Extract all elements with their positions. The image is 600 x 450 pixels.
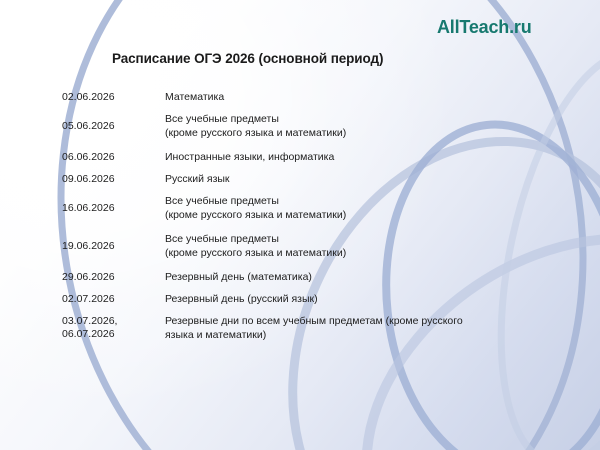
- table-row: 03.07.2026, 06.07.2026Резервные дни по в…: [62, 314, 562, 342]
- schedule-table: 02.06.2026Математика05.06.2026Все учебны…: [62, 90, 562, 352]
- table-row: 16.06.2026Все учебные предметы (кроме ру…: [62, 194, 562, 222]
- exam-date: 03.07.2026, 06.07.2026: [62, 315, 165, 341]
- exam-date: 02.06.2026: [62, 91, 165, 104]
- exam-subject: Резервный день (русский язык): [165, 292, 562, 306]
- exam-date: 05.06.2026: [62, 120, 165, 133]
- slide-canvas: AllTeach.ru Расписание ОГЭ 2026 (основно…: [0, 0, 600, 450]
- page-title: Расписание ОГЭ 2026 (основной период): [112, 51, 383, 66]
- exam-date: 06.06.2026: [62, 151, 165, 164]
- exam-subject: Резервный день (математика): [165, 270, 562, 284]
- table-row: 02.07.2026Резервный день (русский язык): [62, 292, 562, 306]
- table-row: 09.06.2026Русский язык: [62, 172, 562, 186]
- exam-subject: Все учебные предметы (кроме русского язы…: [165, 112, 562, 140]
- exam-subject: Все учебные предметы (кроме русского язы…: [165, 232, 562, 260]
- table-row: 06.06.2026Иностранные языки, информатика: [62, 150, 562, 164]
- exam-subject: Все учебные предметы (кроме русского язы…: [165, 194, 562, 222]
- exam-date: 02.07.2026: [62, 293, 165, 306]
- exam-date: 09.06.2026: [62, 173, 165, 186]
- exam-subject: Иностранные языки, информатика: [165, 150, 562, 164]
- table-row: 02.06.2026Математика: [62, 90, 562, 104]
- exam-subject: Математика: [165, 90, 562, 104]
- table-row: 05.06.2026Все учебные предметы (кроме ру…: [62, 112, 562, 140]
- table-row: 19.06.2026Все учебные предметы (кроме ру…: [62, 232, 562, 260]
- exam-subject: Русский язык: [165, 172, 562, 186]
- allteach-logo: AllTeach.ru: [437, 17, 532, 38]
- exam-date: 16.06.2026: [62, 202, 165, 215]
- exam-subject: Резервные дни по всем учебным предметам …: [165, 314, 562, 342]
- exam-date: 29.06.2026: [62, 271, 165, 284]
- exam-date: 19.06.2026: [62, 240, 165, 253]
- table-row: 29.06.2026Резервный день (математика): [62, 270, 562, 284]
